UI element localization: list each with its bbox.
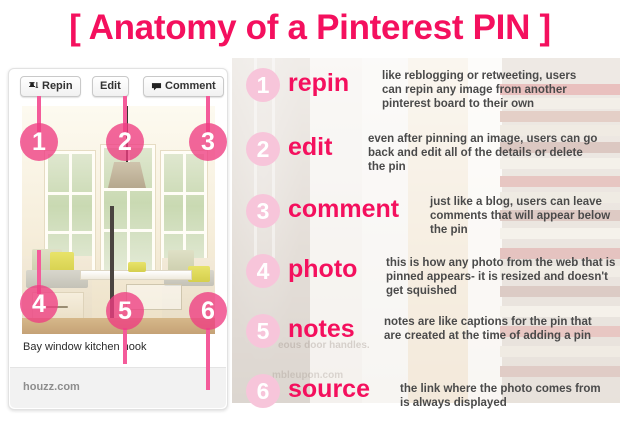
- page-title: [ Anatomy of a Pinterest PIN ]: [0, 8, 620, 48]
- legend-row-comment: 3 comment just like a blog, users can le…: [240, 194, 620, 250]
- pin-caption: Bay window kitchen nook: [23, 341, 147, 353]
- speech-bubble-icon: [151, 82, 162, 92]
- callout-bubble-5[interactable]: 5: [106, 292, 144, 330]
- legend-bubble-3: 3: [246, 194, 280, 228]
- legend-desc-comment: just like a blog, users can leave commen…: [430, 195, 620, 237]
- legend-row-notes: 5 notes notes are like captions for the …: [240, 314, 620, 370]
- pin-source-bar: houzz.com: [10, 367, 226, 408]
- legend-desc-source: the link where the photo comes from is a…: [400, 382, 612, 410]
- callout-bubble-3[interactable]: 3: [189, 123, 227, 161]
- edit-button[interactable]: Edit: [92, 76, 129, 97]
- legend-row-repin: 1 repin like reblogging or retweeting, u…: [240, 68, 620, 124]
- legend-bubble-1: 1: [246, 68, 280, 102]
- legend-row-photo: 4 photo this is how any photo from the w…: [240, 254, 620, 310]
- legend-key-repin: repin: [288, 68, 349, 98]
- comment-button[interactable]: Comment: [143, 76, 224, 97]
- repin-button[interactable]: Repin: [20, 76, 81, 97]
- callout-bubble-1[interactable]: 1: [20, 123, 58, 161]
- legend-list: 1 repin like reblogging or retweeting, u…: [240, 58, 620, 408]
- legend-row-edit: 2 edit even after pinning an image, user…: [240, 132, 620, 188]
- legend-bubble-6: 6: [246, 374, 280, 408]
- pin-card: Repin Edit Comment: [8, 68, 228, 410]
- leader-line-6: [206, 328, 210, 390]
- infographic-page: eous door handles. mbleupon.com [ Anatom…: [0, 0, 620, 431]
- pin-source-link[interactable]: houzz.com: [23, 381, 80, 393]
- legend-desc-edit: even after pinning an image, users can g…: [368, 132, 603, 174]
- legend-desc-photo: this is how any photo from the web that …: [386, 256, 618, 298]
- legend-key-notes: notes: [288, 314, 355, 344]
- legend-desc-notes: notes are like captions for the pin that…: [384, 315, 612, 343]
- legend-key-comment: comment: [288, 194, 399, 224]
- legend-bubble-2: 2: [246, 132, 280, 166]
- legend-key-source: source: [288, 374, 370, 404]
- legend-desc-repin: like reblogging or retweeting, users can…: [382, 69, 597, 111]
- comment-button-label: Comment: [165, 76, 216, 97]
- callout-bubble-4[interactable]: 4: [20, 285, 58, 323]
- repin-button-label: Repin: [42, 76, 73, 97]
- pin-action-bar: Repin Edit Comment: [9, 76, 229, 98]
- edit-button-label: Edit: [100, 76, 121, 97]
- legend-bubble-5: 5: [246, 314, 280, 348]
- leader-line-5: [123, 328, 127, 364]
- pushpin-icon: [28, 81, 39, 92]
- legend-row-source: 6 source the link where the photo comes …: [240, 374, 620, 430]
- callout-bubble-6[interactable]: 6: [189, 292, 227, 330]
- callout-bubble-2[interactable]: 2: [106, 123, 144, 161]
- legend-bubble-4: 4: [246, 254, 280, 288]
- legend-key-edit: edit: [288, 132, 332, 162]
- legend-key-photo: photo: [288, 254, 357, 284]
